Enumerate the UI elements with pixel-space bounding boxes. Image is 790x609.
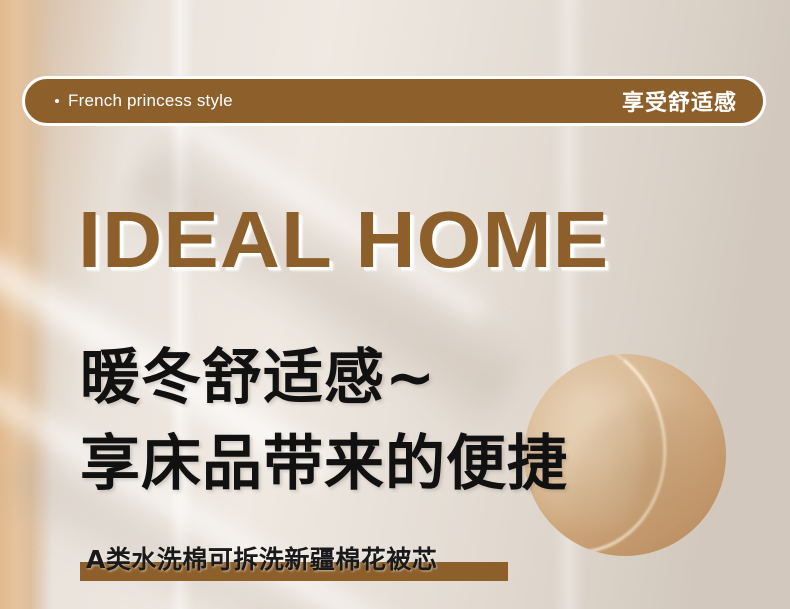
- tagline-english-label: French princess style: [68, 91, 233, 111]
- top-tagline-banner: French princess style 享受舒适感: [22, 76, 766, 126]
- tagline-chinese-label: 享受舒适感: [622, 85, 737, 117]
- tagline-left-group: French princess style: [55, 91, 233, 111]
- bottom-caption: A类水洗棉可拆洗新疆棉花被芯: [80, 545, 437, 591]
- hero-headline-line-1: 暖冬舒适感~: [80, 335, 568, 421]
- dot-icon: [55, 99, 59, 103]
- hero-headline-chinese: 暖冬舒适感~ 享床品带来的便捷: [80, 335, 568, 507]
- hero-title-english: IDEAL HOME: [78, 198, 609, 282]
- promo-banner-canvas: French princess style 享受舒适感 IDEAL HOME 暖…: [0, 0, 790, 609]
- hero-headline-line-2: 享床品带来的便捷: [80, 421, 568, 507]
- caption-text: A类水洗棉可拆洗新疆棉花被芯: [80, 545, 437, 575]
